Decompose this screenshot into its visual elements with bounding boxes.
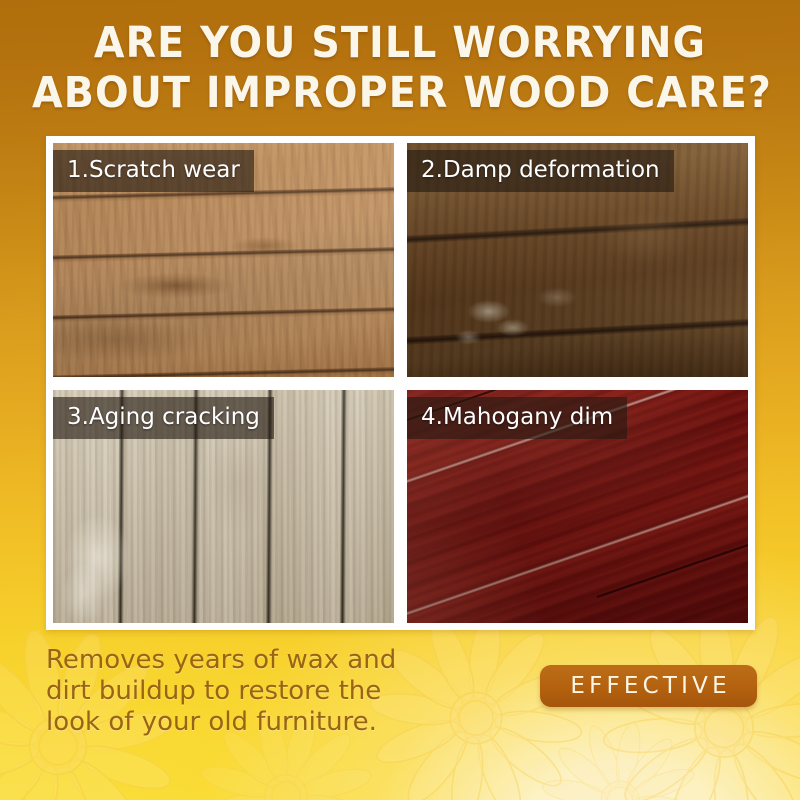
photo-grid: 1.Scratch wear 2.Damp deformation 3.Agin… bbox=[53, 143, 748, 623]
problem-label-4: 4.Mahogany dim bbox=[407, 397, 627, 439]
problem-panel-2: 2.Damp deformation bbox=[407, 143, 748, 377]
effective-badge: EFFECTIVE bbox=[540, 665, 757, 707]
problem-panel-1: 1.Scratch wear bbox=[53, 143, 394, 377]
product-description: Removes years of wax and dirt buildup to… bbox=[46, 645, 466, 738]
headline-line-1: ARE YOU STILL WORRYING bbox=[32, 18, 768, 68]
description-line-3: look of your old furniture. bbox=[46, 707, 466, 738]
description-line-1: Removes years of wax and bbox=[46, 645, 466, 676]
headline-line-2: ABOUT IMPROPER WOOD CARE? bbox=[32, 68, 768, 118]
problem-label-2: 2.Damp deformation bbox=[407, 150, 674, 192]
effective-badge-label: EFFECTIVE bbox=[566, 675, 731, 698]
problem-label-3: 3.Aging cracking bbox=[53, 397, 274, 439]
description-line-2: dirt buildup to restore the bbox=[46, 676, 466, 707]
photo-grid-frame: 1.Scratch wear 2.Damp deformation 3.Agin… bbox=[46, 136, 755, 630]
page-title: ARE YOU STILL WORRYING ABOUT IMPROPER WO… bbox=[0, 18, 800, 118]
poster: ARE YOU STILL WORRYING ABOUT IMPROPER WO… bbox=[0, 0, 800, 800]
problem-label-1: 1.Scratch wear bbox=[53, 150, 254, 192]
problem-panel-4: 4.Mahogany dim bbox=[407, 390, 748, 624]
problem-panel-3: 3.Aging cracking bbox=[53, 390, 394, 624]
